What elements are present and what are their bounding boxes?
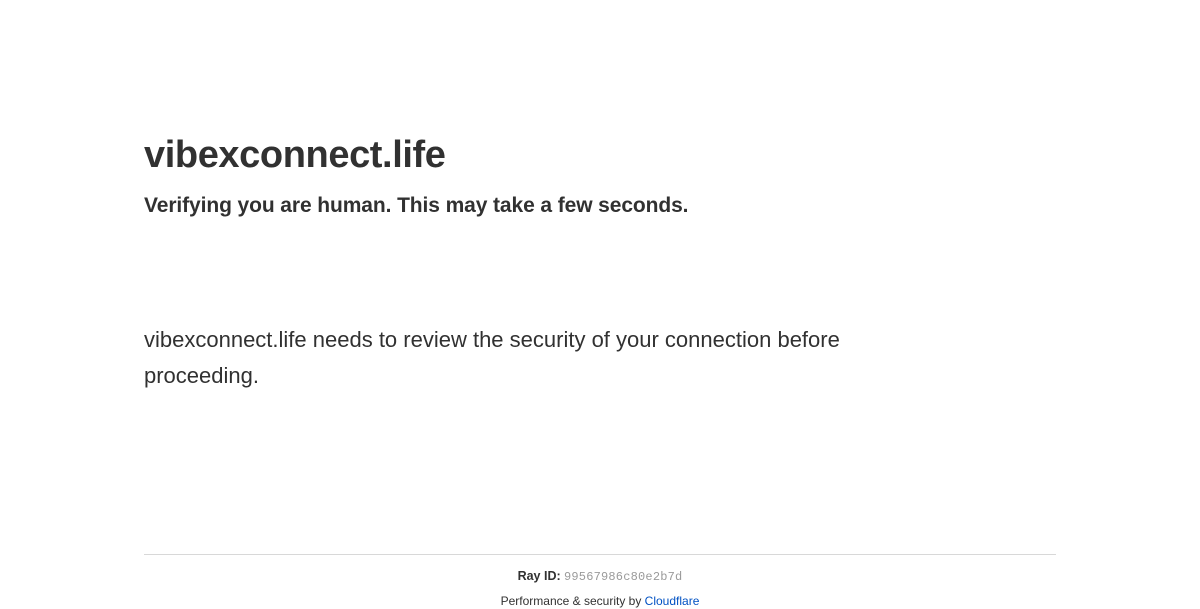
challenge-page: vibexconnect.life Verifying you are huma… xyxy=(0,0,1200,600)
page-title: vibexconnect.life xyxy=(144,132,446,178)
challenge-description: vibexconnect.life needs to review the se… xyxy=(144,322,954,394)
turnstile-challenge-widget[interactable] xyxy=(144,238,444,312)
verification-status-text: Verifying you are human. This may take a… xyxy=(144,192,688,220)
cloudflare-link[interactable]: Cloudflare xyxy=(645,594,700,608)
ray-id-value: 99567986c80e2b7d xyxy=(564,570,682,584)
attribution-line: Performance & security by Cloudflare xyxy=(144,585,1056,609)
ray-id-line: Ray ID: 99567986c80e2b7d xyxy=(144,555,1056,585)
attribution-prefix: Performance & security by xyxy=(501,594,645,608)
ray-id-label: Ray ID: xyxy=(518,569,561,583)
footer: Ray ID: 99567986c80e2b7d Performance & s… xyxy=(144,555,1056,609)
